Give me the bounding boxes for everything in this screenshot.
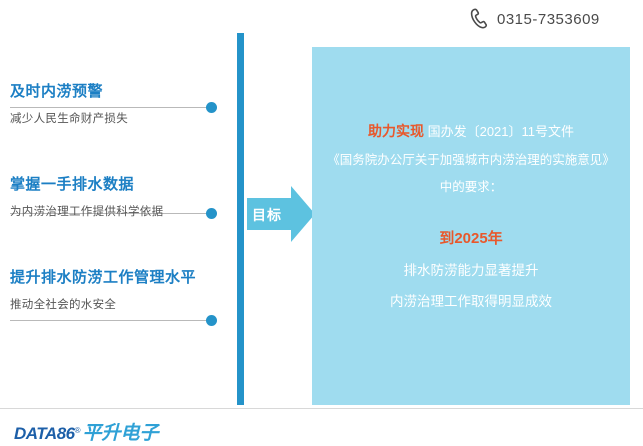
- panel-line-6: 内涝治理工作取得明显成效: [312, 292, 630, 313]
- list-item: 掌握一手排水数据 为内涝治理工作提供科学依据: [10, 173, 225, 219]
- phone-number-text: 0315-7353609: [497, 11, 600, 28]
- footer-divider: [0, 408, 643, 409]
- phone-icon: [470, 8, 490, 30]
- panel-line-5: 排水防涝能力显著提升: [312, 261, 630, 282]
- logo-brand-en: DATA86: [14, 424, 75, 444]
- benefit-title: 提升排水防涝工作管理水平: [10, 266, 225, 287]
- benefits-list: 及时内涝预警 减少人民生命财产损失 掌握一手排水数据 为内涝治理工作提供科学依据…: [10, 80, 225, 359]
- logo-brand-cn: 平升电子: [83, 418, 159, 445]
- contact-phone: 0315-7353609: [470, 8, 600, 30]
- vertical-divider-bar: [237, 33, 244, 405]
- panel-line-1-highlight: 助力实现: [368, 123, 424, 139]
- panel-line-2: 《国务院办公厅关于加强城市内涝治理的实施意见》: [312, 151, 630, 170]
- benefit-subtitle: 减少人民生命财产损失: [10, 110, 225, 126]
- company-logo: DATA86 ® 平升电子: [14, 418, 159, 445]
- panel-line-3: 中的要求：: [312, 178, 630, 197]
- benefit-title: 掌握一手排水数据: [10, 173, 225, 194]
- list-item: 及时内涝预警 减少人民生命财产损失: [10, 80, 225, 126]
- panel-line-4: 到2025年: [312, 227, 630, 250]
- list-item: 提升排水防涝工作管理水平 推动全社会的水安全: [10, 266, 225, 312]
- benefit-title: 及时内涝预警: [10, 80, 225, 101]
- panel-line-1: 助力实现 国办发〔2021〕11号文件: [312, 121, 630, 143]
- panel-spacer: [312, 197, 630, 227]
- goal-panel: 助力实现 国办发〔2021〕11号文件 《国务院办公厅关于加强城市内涝治理的实施…: [312, 47, 630, 405]
- logo-registered-mark: ®: [75, 426, 81, 435]
- panel-line-1-rest: 国办发〔2021〕11号文件: [428, 124, 574, 139]
- benefit-subtitle: 推动全社会的水安全: [10, 296, 225, 312]
- goal-arrow-label: 目标: [252, 205, 282, 225]
- benefit-subtitle: 为内涝治理工作提供科学依据: [10, 203, 225, 219]
